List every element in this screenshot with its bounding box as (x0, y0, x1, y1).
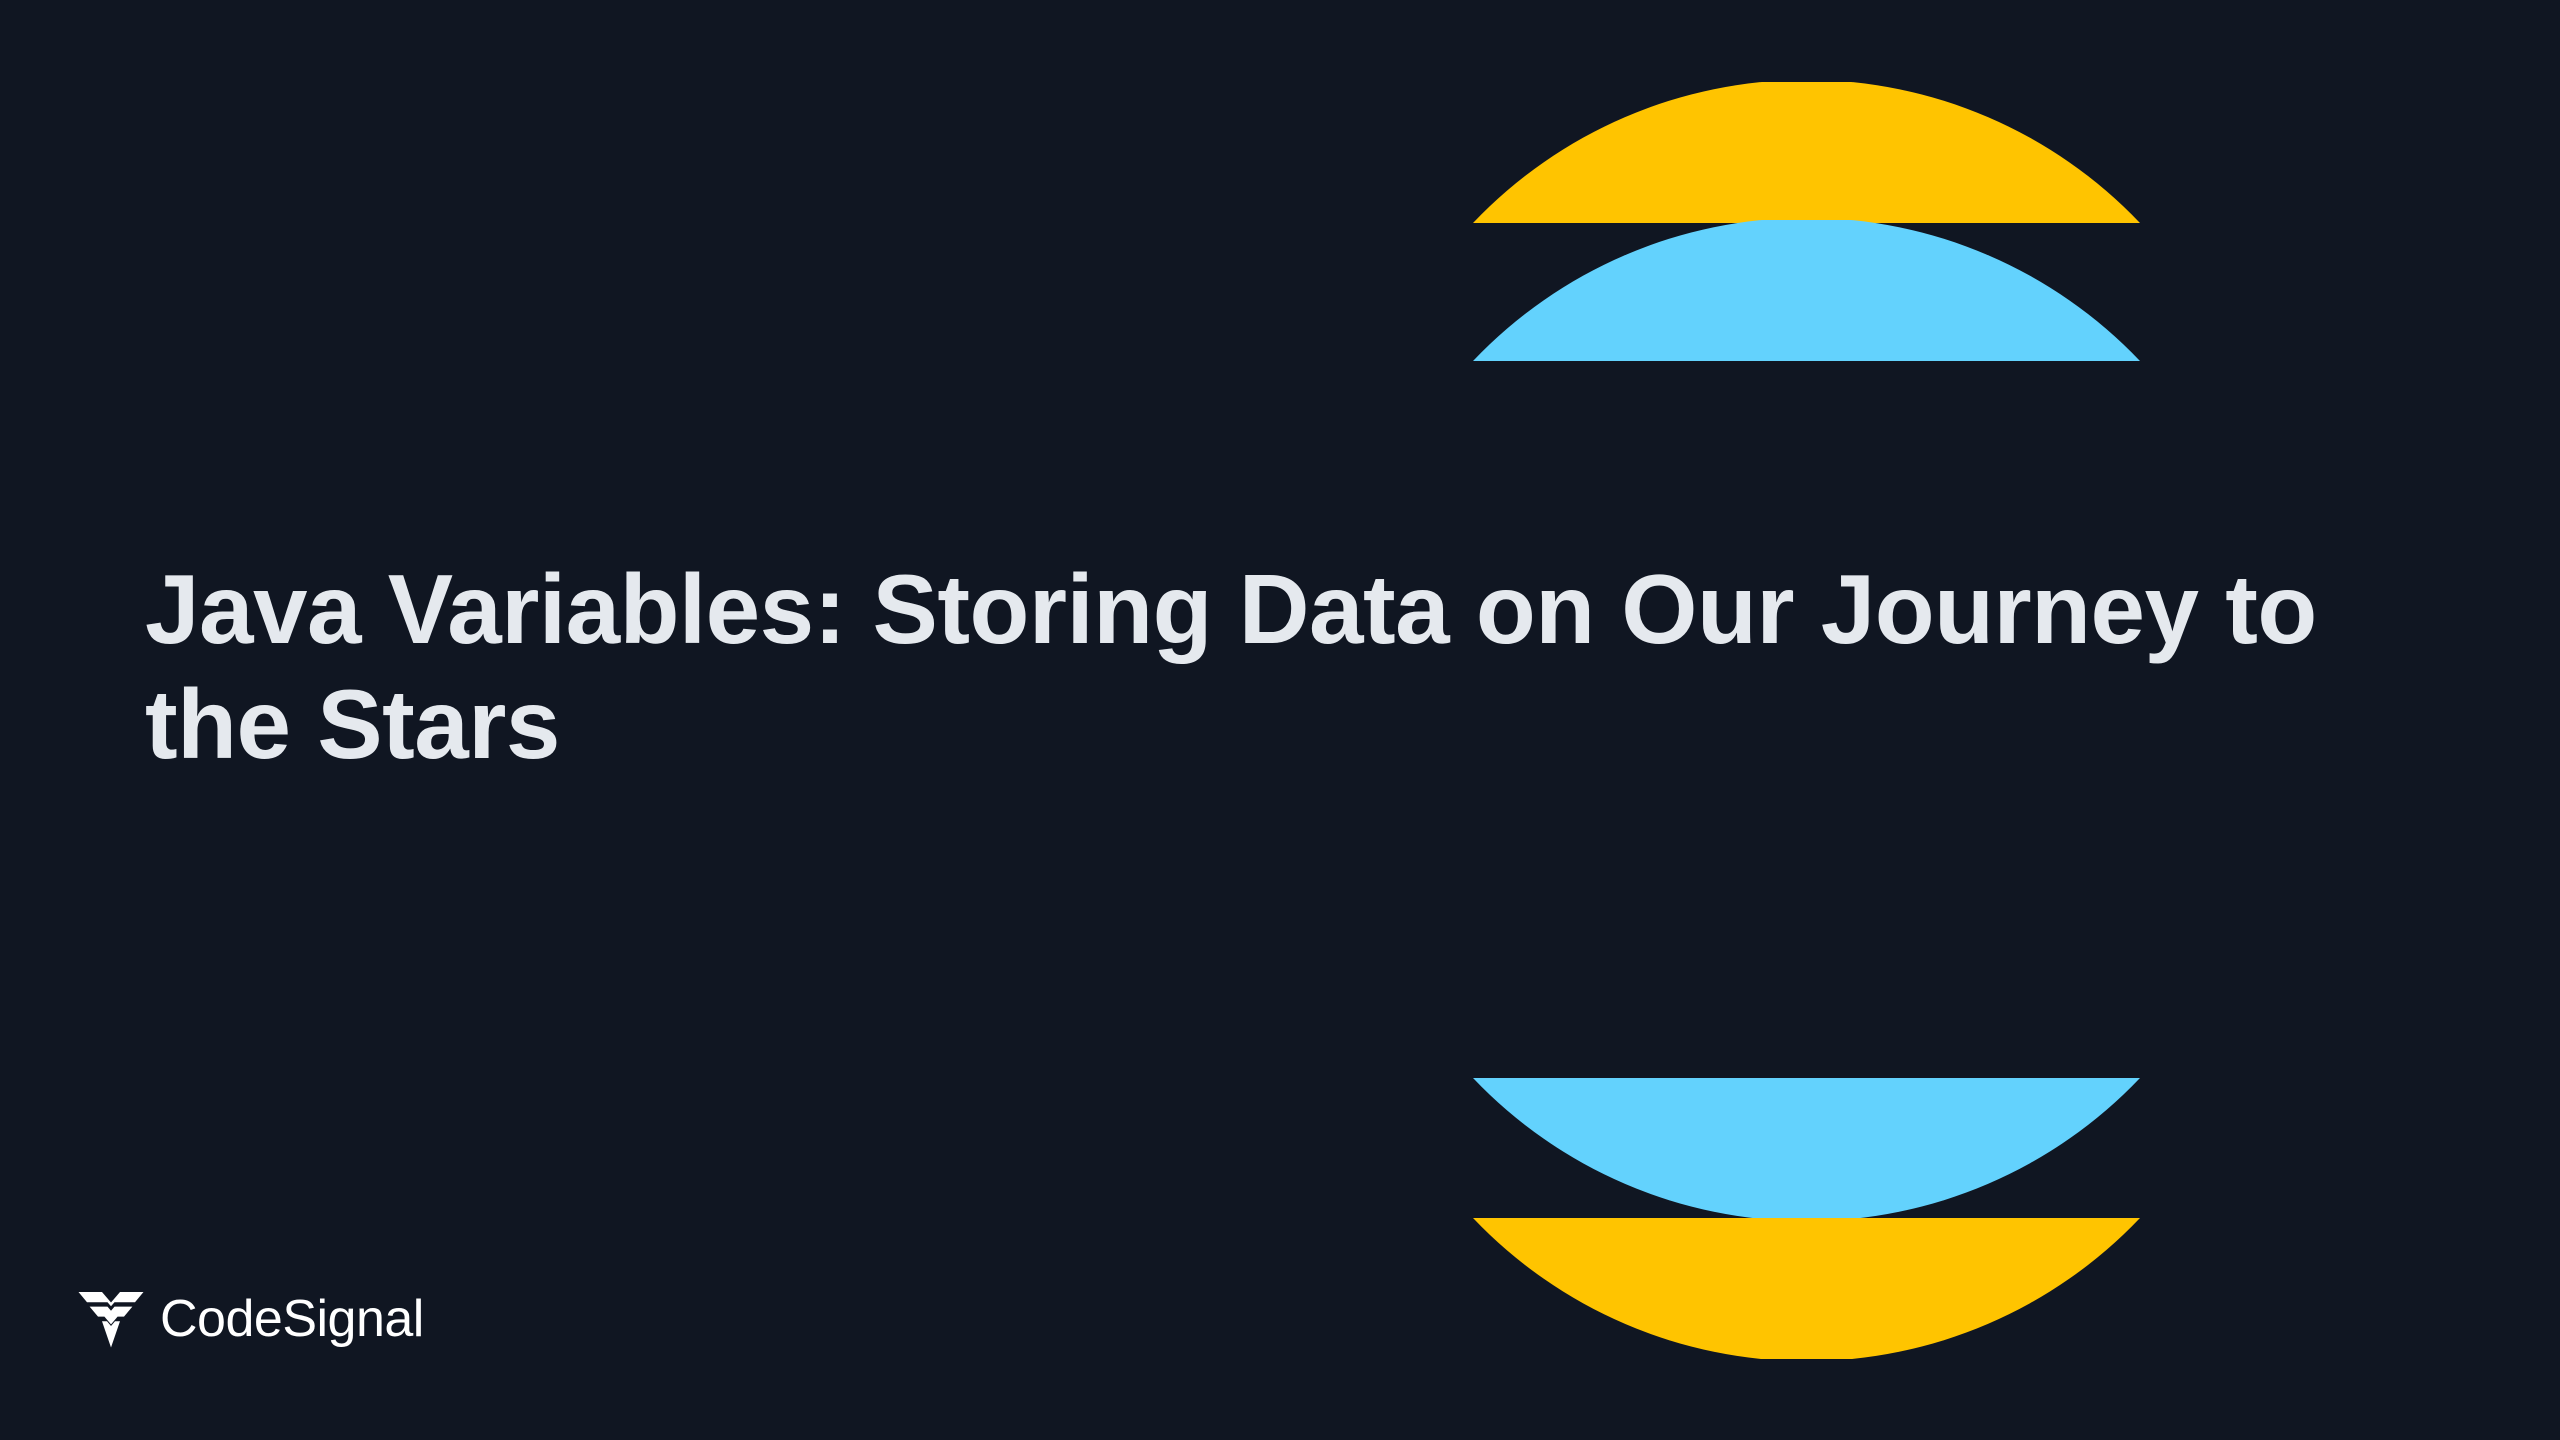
brand-wordmark: CodeSignal (160, 1293, 424, 1345)
title-block: Java Variables: Storing Data on Our Jour… (145, 552, 2325, 781)
page-title: Java Variables: Storing Data on Our Jour… (145, 552, 2325, 781)
title-slide: Java Variables: Storing Data on Our Jour… (0, 0, 2560, 1440)
bottom-arc-yellow (1473, 1218, 2140, 1359)
bottom-arc-blue (1473, 1078, 2140, 1219)
brand-logo: CodeSignal (78, 1288, 424, 1350)
codesignal-wing-icon (78, 1288, 144, 1350)
decorative-arc-group-top (1473, 82, 2140, 360)
top-arc-yellow (1473, 82, 2140, 223)
top-arc-blue (1473, 220, 2140, 361)
decorative-arc-group-bottom (1473, 1078, 2140, 1358)
